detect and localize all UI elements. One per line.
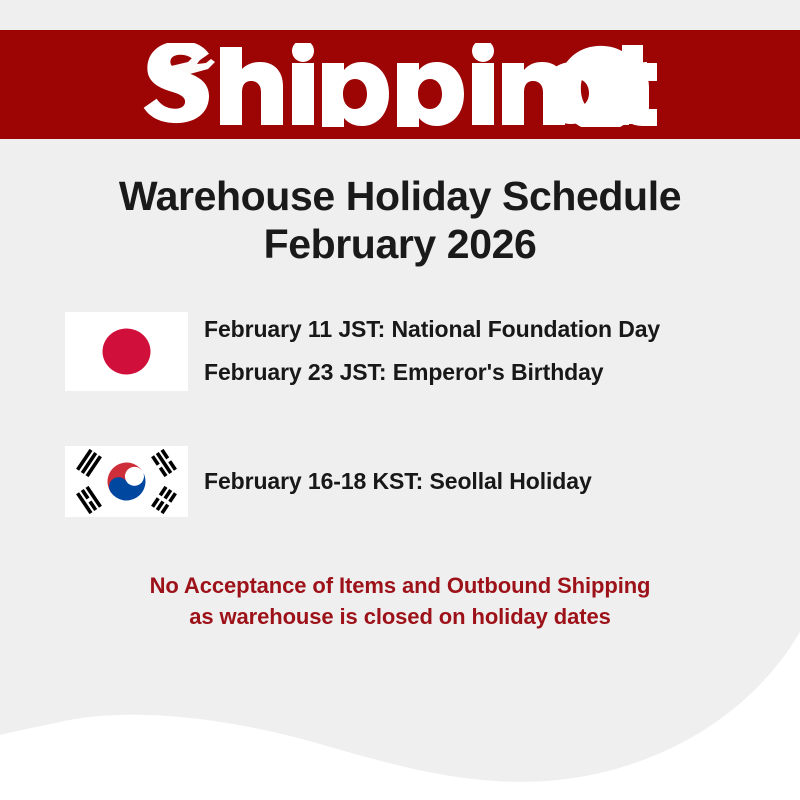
closure-note-line-2: as warehouse is closed on holiday dates <box>0 601 800 632</box>
holiday-item: February 23 JST: Emperor's Birthday <box>204 351 660 394</box>
holiday-item: February 11 JST: National Foundation Day <box>204 308 660 351</box>
page-title: Warehouse Holiday Schedule February 2026 <box>0 172 800 269</box>
page-title-line-1: Warehouse Holiday Schedule <box>0 172 800 220</box>
header-band: ShippingCart <box>0 30 800 139</box>
page-title-line-2: February 2026 <box>0 220 800 268</box>
closure-note: No Acceptance of Items and Outbound Ship… <box>0 570 800 632</box>
japan-flag-icon <box>65 312 188 391</box>
schedule-row-japan: February 11 JST: National Foundation Day… <box>0 305 800 397</box>
brand-logo[interactable]: ShippingCart <box>140 43 660 127</box>
schedule-row-south-korea: February 16-18 KST: Seollal Holiday <box>0 435 800 527</box>
japan-holiday-lines: February 11 JST: National Foundation Day… <box>204 308 660 393</box>
holiday-schedule-poster: ShippingCart Warehouse Holiday Schedule … <box>0 0 800 800</box>
holiday-item: February 16-18 KST: Seollal Holiday <box>204 460 592 503</box>
closure-note-line-1: No Acceptance of Items and Outbound Ship… <box>0 570 800 601</box>
south-korea-flag-icon <box>65 446 188 517</box>
holiday-schedule-list: February 11 JST: National Foundation Day… <box>0 305 800 527</box>
south-korea-holiday-lines: February 16-18 KST: Seollal Holiday <box>204 460 592 503</box>
